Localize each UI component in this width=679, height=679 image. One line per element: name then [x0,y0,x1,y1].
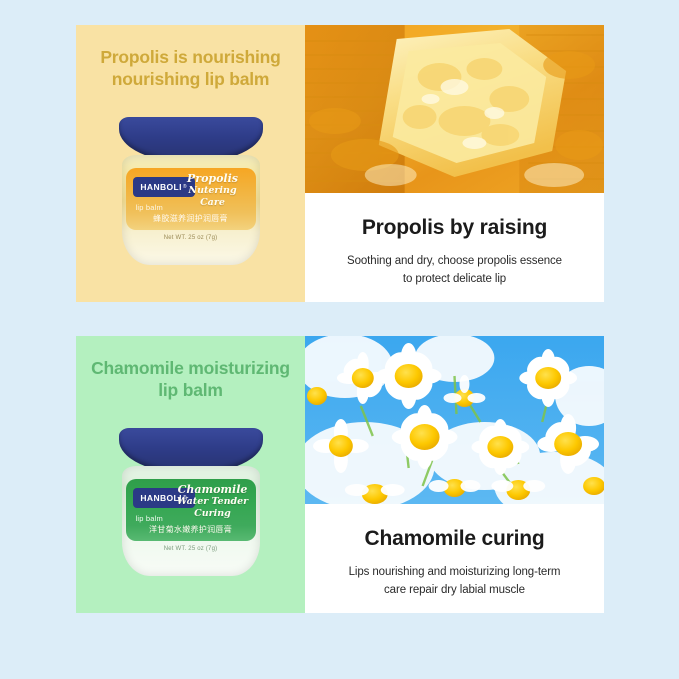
caption-line-2: care repair dry labial muscle [305,582,604,600]
net-weight-label: Net WT. 25 oz (7g) [122,546,260,552]
product-name-cn: 蜂胶滋养润护润唇膏 [134,213,248,224]
jar-label-band: HANBOLI® Chamomile Water Tender Curing l… [126,479,256,541]
jar-body: HANBOLI® Propolis Nutering Care lip balm… [122,155,260,265]
product-panel-chamomile: Chamomile moisturizing lip balm HANBOLI®… [76,336,305,613]
product-jar-chamomile: HANBOLI® Chamomile Water Tender Curing l… [116,428,266,580]
script-line-1: Propolis [176,172,250,185]
script-line-3: Curing [176,508,250,520]
script-line-2: Water Tender [176,496,250,508]
product-script-name: Chamomile Water Tender Curing [176,483,250,520]
panel-title-chamomile: Chamomile moisturizing lip balm [76,357,305,402]
card-content-propolis: Propolis by raising Soothing and dry, ch… [305,25,604,302]
product-type-label: lip balm [136,514,163,523]
jar-body: HANBOLI® Chamomile Water Tender Curing l… [122,466,260,576]
product-script-name: Propolis Nutering Care [176,172,250,209]
product-type-label: lip balm [136,203,163,212]
caption-chamomile: Chamomile curing Lips nourishing and moi… [305,504,604,613]
caption-line-1: Soothing and dry, choose propolis essenc… [305,253,604,271]
product-card-propolis[interactable]: Propolis is nourishing nourishing lip ba… [76,25,604,302]
card-content-chamomile: Chamomile curing Lips nourishing and moi… [305,336,604,613]
caption-propolis: Propolis by raising Soothing and dry, ch… [305,193,604,302]
net-weight-label: Net WT. 25 oz (7g) [122,235,260,241]
product-name-cn: 洋甘菊水嫩养护润唇膏 [134,524,248,535]
caption-line-2: to protect delicate lip [305,271,604,289]
caption-title: Propolis by raising [305,216,604,240]
honeycomb-photo [305,25,604,193]
product-jar-propolis: HANBOLI® Propolis Nutering Care lip balm… [116,117,266,269]
script-line-1: Chamomile [176,483,250,496]
script-line-2: Nutering Care [176,185,250,208]
product-showcase-page: Propolis is nourishing nourishing lip ba… [0,0,679,679]
caption-line-1: Lips nourishing and moisturizing long-te… [305,564,604,582]
product-panel-propolis: Propolis is nourishing nourishing lip ba… [76,25,305,302]
caption-title: Chamomile curing [305,527,604,551]
product-card-chamomile[interactable]: Chamomile moisturizing lip balm HANBOLI®… [76,336,604,613]
panel-title-propolis: Propolis is nourishing nourishing lip ba… [76,46,305,91]
chamomile-daisies-photo [305,336,604,504]
jar-label-band: HANBOLI® Propolis Nutering Care lip balm… [126,168,256,230]
